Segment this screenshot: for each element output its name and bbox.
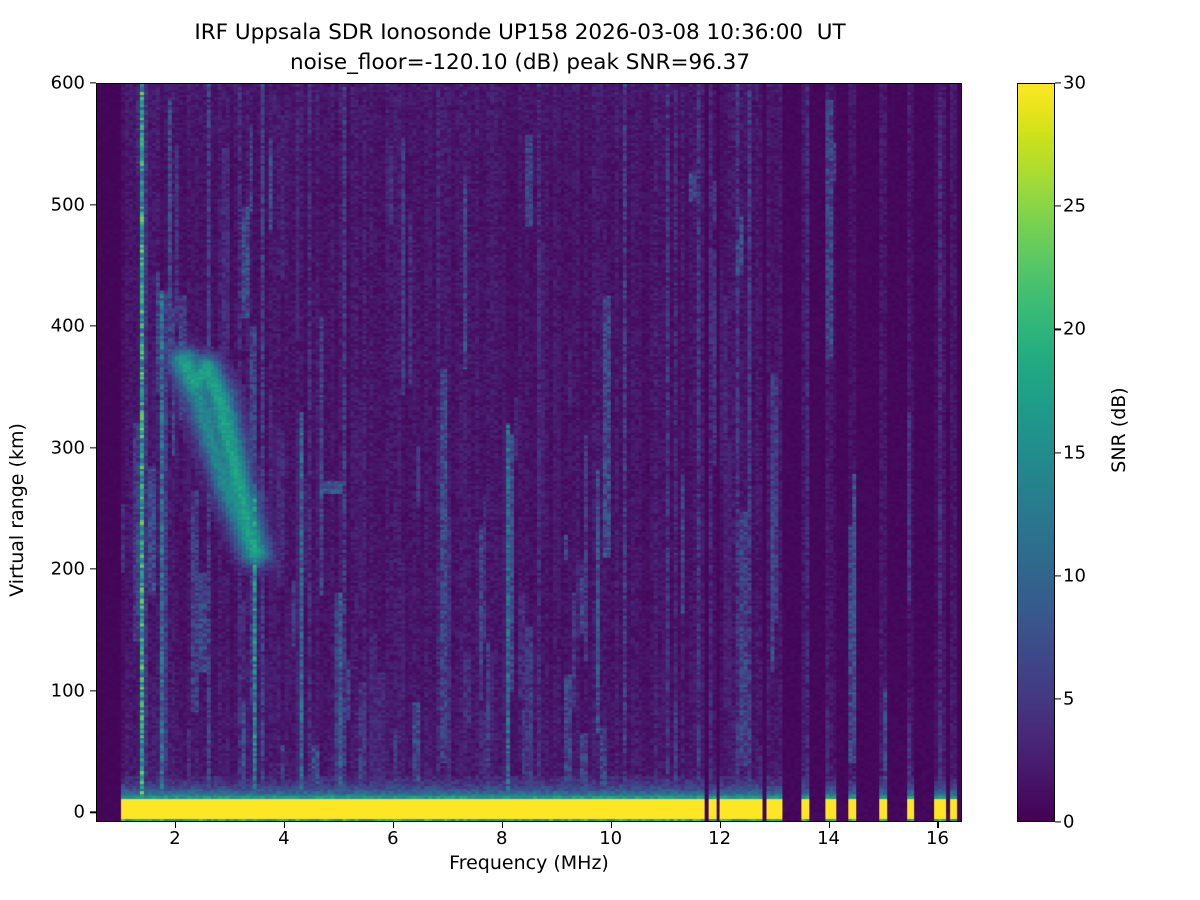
- y-axis-label-text: Virtual range (km): [6, 390, 28, 630]
- x-tick-mark: [829, 822, 830, 828]
- x-tick-mark: [611, 822, 612, 828]
- x-tick-label: 4: [278, 828, 289, 849]
- colorbar-gradient: [1018, 84, 1054, 821]
- x-tick-label: 10: [599, 828, 622, 849]
- y-tick-mark: [90, 325, 96, 326]
- colorbar-tick-mark: [1055, 698, 1061, 699]
- x-tick-mark: [175, 822, 176, 828]
- x-tick-label: 6: [387, 828, 398, 849]
- colorbar-tick-label: 5: [1063, 688, 1074, 709]
- colorbar-tick-mark: [1055, 329, 1061, 330]
- colorbar-tick-label: 15: [1063, 442, 1086, 463]
- x-tick-label: 8: [496, 828, 507, 849]
- x-tick-label: 12: [708, 828, 731, 849]
- ionogram-figure: IRF Uppsala SDR Ionosonde UP158 2026-03-…: [0, 0, 1200, 900]
- y-tick-mark: [90, 204, 96, 205]
- colorbar-tick-mark: [1055, 452, 1061, 453]
- colorbar-tick-label: 10: [1063, 565, 1086, 586]
- figure-title: IRF Uppsala SDR Ionosonde UP158 2026-03-…: [0, 18, 1040, 78]
- y-tick-label: 200: [51, 559, 85, 580]
- colorbar-tick-mark: [1055, 206, 1061, 207]
- x-tick-label: 16: [926, 828, 949, 849]
- colorbar: [1017, 83, 1055, 822]
- y-tick-label: 300: [51, 437, 85, 458]
- x-tick-label: 2: [169, 828, 180, 849]
- y-tick-mark: [90, 569, 96, 570]
- colorbar-tick-mark: [1055, 82, 1061, 83]
- title-line-primary: IRF Uppsala SDR Ionosonde UP158 2026-03-…: [0, 18, 1040, 48]
- x-tick-mark: [720, 822, 721, 828]
- y-tick-mark: [90, 82, 96, 83]
- ionogram-heatmap: [97, 84, 961, 821]
- y-tick-label: 0: [74, 802, 85, 823]
- y-tick-label: 500: [51, 194, 85, 215]
- colorbar-tick-mark: [1055, 575, 1061, 576]
- x-tick-mark: [937, 822, 938, 828]
- colorbar-tick-label: 20: [1063, 319, 1086, 340]
- colorbar-tick-label: 30: [1063, 73, 1086, 94]
- ionogram-plot-area: [96, 83, 962, 822]
- colorbar-tick-mark: [1055, 821, 1061, 822]
- y-tick-mark: [90, 812, 96, 813]
- colorbar-label-text: SNR (dB): [1108, 330, 1130, 530]
- y-tick-mark: [90, 690, 96, 691]
- x-tick-label: 14: [817, 828, 840, 849]
- y-tick-label: 400: [51, 316, 85, 337]
- colorbar-tick-label: 0: [1063, 812, 1074, 833]
- y-tick-label: 100: [51, 680, 85, 701]
- y-tick-label: 600: [51, 73, 85, 94]
- x-tick-mark: [502, 822, 503, 828]
- title-line-secondary: noise_floor=-120.10 (dB) peak SNR=96.37: [0, 48, 1040, 78]
- y-tick-mark: [90, 447, 96, 448]
- y-axis-label: Virtual range (km): [14, 300, 38, 560]
- x-axis-label-text: Frequency (MHz): [96, 852, 962, 874]
- x-tick-mark: [284, 822, 285, 828]
- colorbar-tick-label: 25: [1063, 196, 1086, 217]
- x-tick-mark: [393, 822, 394, 828]
- colorbar-label: SNR (dB): [1108, 380, 1132, 540]
